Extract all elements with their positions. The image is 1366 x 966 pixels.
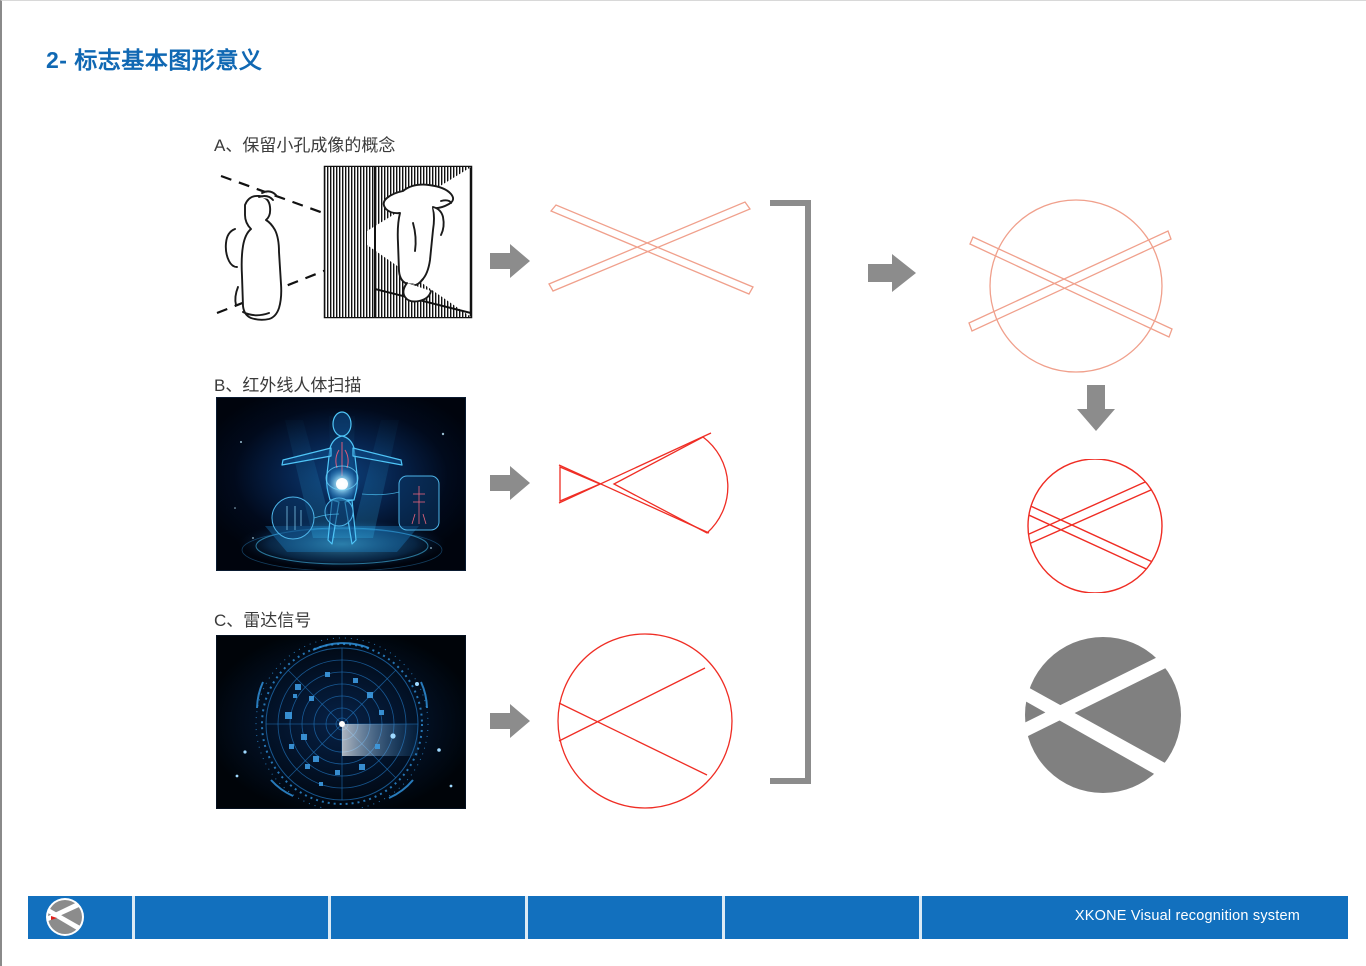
footer-caption: XKONE Visual recognition system bbox=[1075, 908, 1300, 924]
footer-divider bbox=[132, 896, 135, 939]
right-arrow-icon bbox=[866, 251, 918, 295]
page-title: 2- 标志基本图形意义 bbox=[46, 41, 262, 75]
right-arrow-icon bbox=[488, 463, 532, 503]
logo-outline-red bbox=[1010, 459, 1196, 593]
footer-divider bbox=[525, 896, 528, 939]
down-arrow-icon bbox=[1074, 383, 1118, 433]
footer-divider bbox=[919, 896, 922, 939]
construction-circle-with-bars bbox=[960, 183, 1200, 373]
footer: XKONE Visual recognition system bbox=[2, 896, 1366, 939]
right-arrow-icon bbox=[488, 701, 532, 741]
right-arrow-icon bbox=[488, 241, 532, 281]
circle-chords-outline-c bbox=[545, 631, 750, 811]
logo-solid-gray bbox=[1018, 629, 1188, 801]
bowtie-cone-outline-b bbox=[547, 421, 747, 551]
group-bracket bbox=[764, 197, 820, 787]
radar-signal-photo bbox=[216, 635, 466, 809]
pinhole-camera-illustration bbox=[207, 161, 475, 321]
footer-divider bbox=[722, 896, 725, 939]
xkone-logo-mark bbox=[41, 893, 89, 941]
row-label-a: A、保留小孔成像的概念 bbox=[214, 131, 395, 156]
footer-divider bbox=[328, 896, 331, 939]
slide-page: 2- 标志基本图形意义 A、保留小孔成像的概念 bbox=[0, 0, 1366, 966]
infrared-body-scan-photo bbox=[216, 397, 466, 571]
x-bars-outline-a bbox=[547, 191, 757, 311]
row-label-b: B、红外线人体扫描 bbox=[214, 371, 361, 396]
footer-bar: XKONE Visual recognition system bbox=[28, 896, 1348, 939]
row-label-c: C、雷达信号 bbox=[214, 606, 311, 631]
